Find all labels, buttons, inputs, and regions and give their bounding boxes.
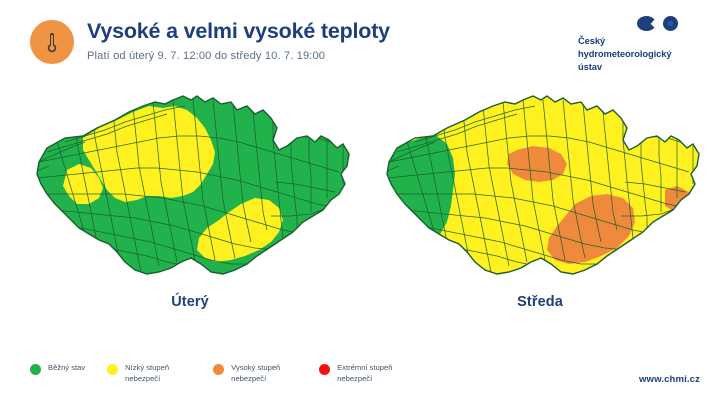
legend-item-normal: Běžný stav — [30, 362, 85, 375]
legend-dot-red-icon — [319, 364, 330, 375]
title-block: Vysoké a velmi vysoké teploty Platí od ú… — [30, 18, 390, 64]
title-texts: Vysoké a velmi vysoké teploty Platí od ú… — [87, 18, 390, 62]
legend-item-high: Vysoký stupeň nebezpečí — [213, 362, 297, 384]
logo-line-3: ústav — [578, 61, 671, 74]
legend-dot-green-icon — [30, 364, 41, 375]
map-caption-tuesday: Úterý — [25, 294, 355, 310]
map-caption-wednesday: Středa — [375, 294, 705, 310]
map-panel-wednesday[interactable]: Středa — [375, 92, 705, 322]
czech-republic-map-wednesday — [375, 92, 705, 282]
legend-dot-yellow-icon — [107, 364, 118, 375]
legend-dot-orange-icon — [213, 364, 224, 375]
maps-container: Úterý — [0, 92, 722, 322]
logo-dot-icon — [663, 16, 678, 31]
logo-line-1: Český — [578, 35, 671, 48]
thermometer-icon — [30, 20, 74, 64]
page-title: Vysoké a velmi vysoké teploty — [87, 20, 390, 43]
logo-eye-icon — [637, 16, 656, 31]
legend-label-normal: Běžný stav — [48, 362, 85, 373]
legend-label-low: Nízký stupeň nebezpečí — [125, 362, 191, 384]
map-panel-tuesday[interactable]: Úterý — [25, 92, 355, 322]
page-header: Vysoké a velmi vysoké teploty Platí od ú… — [0, 0, 722, 92]
website-url[interactable]: www.chmi.cz — [639, 374, 700, 385]
legend-label-extreme: Extrémní stupeň nebezpečí — [337, 362, 403, 384]
legend: Běžný stav Nízký stupeň nebezpečí Vysoký… — [30, 362, 425, 384]
logo-line-2: hydrometeorologický — [578, 48, 671, 61]
czech-republic-map-tuesday — [25, 92, 355, 282]
legend-item-extreme: Extrémní stupeň nebezpečí — [319, 362, 403, 384]
legend-item-low: Nízký stupeň nebezpečí — [107, 362, 191, 384]
legend-label-high: Vysoký stupeň nebezpečí — [231, 362, 297, 384]
validity-subtitle: Platí od úterý 9. 7. 12:00 do středy 10.… — [87, 50, 390, 62]
logo-text: Český hydrometeorologický ústav — [578, 35, 671, 74]
logo-marks — [637, 16, 678, 31]
